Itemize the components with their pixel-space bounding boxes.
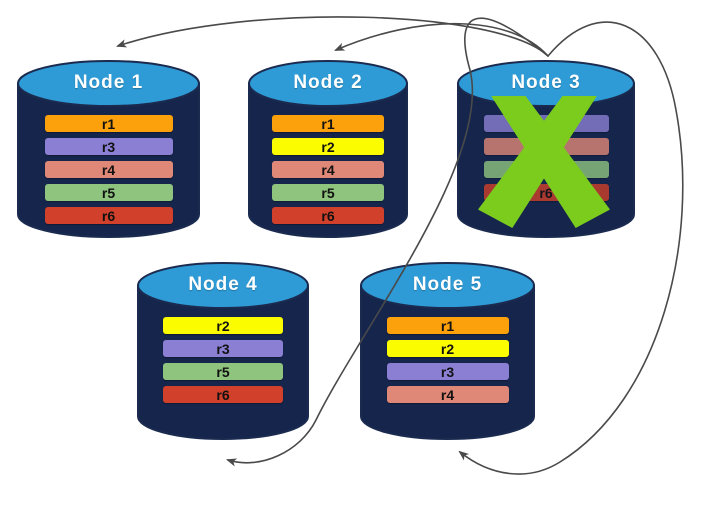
node-3-cylinder[interactable]: Node 3r3r4r5r6 <box>457 60 635 238</box>
replica-bar-r3[interactable]: r3 <box>45 138 173 155</box>
replica-bar-r1[interactable]: r1 <box>387 317 509 334</box>
node-2-label: Node 2 <box>248 72 408 94</box>
replica-bar-r1[interactable]: r1 <box>272 115 384 132</box>
node-4-replica-list: r2r3r5r6 <box>137 317 309 403</box>
replica-bar-r6[interactable]: r6 <box>45 207 173 224</box>
replica-bar-r4[interactable]: r4 <box>45 161 173 178</box>
replica-bar-r6[interactable]: r6 <box>163 386 283 403</box>
replica-bar-r6[interactable]: r6 <box>272 207 384 224</box>
node-3-label: Node 3 <box>457 72 635 94</box>
node-4-cylinder[interactable]: Node 4r2r3r5r6 <box>137 262 309 440</box>
replica-bar-r4[interactable]: r4 <box>387 386 509 403</box>
diagram-canvas: Node 1r1r3r4r5r6Node 2r1r2r4r5r6Node 3r3… <box>0 0 708 508</box>
node-2-cylinder[interactable]: Node 2r1r2r4r5r6 <box>248 60 408 238</box>
replica-bar-r5[interactable]: r5 <box>45 184 173 201</box>
node-5-cylinder[interactable]: Node 5r1r2r3r4 <box>360 262 535 440</box>
edge-node3-to-node2 <box>336 24 548 56</box>
node-failure-x-icon <box>473 96 615 228</box>
node-5-replica-list: r1r2r3r4 <box>360 317 535 403</box>
replica-bar-r5[interactable]: r5 <box>272 184 384 201</box>
node-1-label: Node 1 <box>17 72 200 94</box>
node-5-label: Node 5 <box>360 274 535 296</box>
replica-bar-r3[interactable]: r3 <box>163 340 283 357</box>
replica-bar-r1[interactable]: r1 <box>45 115 173 132</box>
node-2-replica-list: r1r2r4r5r6 <box>248 115 408 224</box>
edge-node3-to-node1 <box>118 17 548 56</box>
node-1-replica-list: r1r3r4r5r6 <box>17 115 200 224</box>
replica-bar-r2[interactable]: r2 <box>272 138 384 155</box>
node-4-label: Node 4 <box>137 274 309 296</box>
replica-bar-r3[interactable]: r3 <box>387 363 509 380</box>
node-1-cylinder[interactable]: Node 1r1r3r4r5r6 <box>17 60 200 238</box>
replica-bar-r2[interactable]: r2 <box>163 317 283 334</box>
replica-bar-r2[interactable]: r2 <box>387 340 509 357</box>
replica-bar-r5[interactable]: r5 <box>163 363 283 380</box>
replica-bar-r4[interactable]: r4 <box>272 161 384 178</box>
